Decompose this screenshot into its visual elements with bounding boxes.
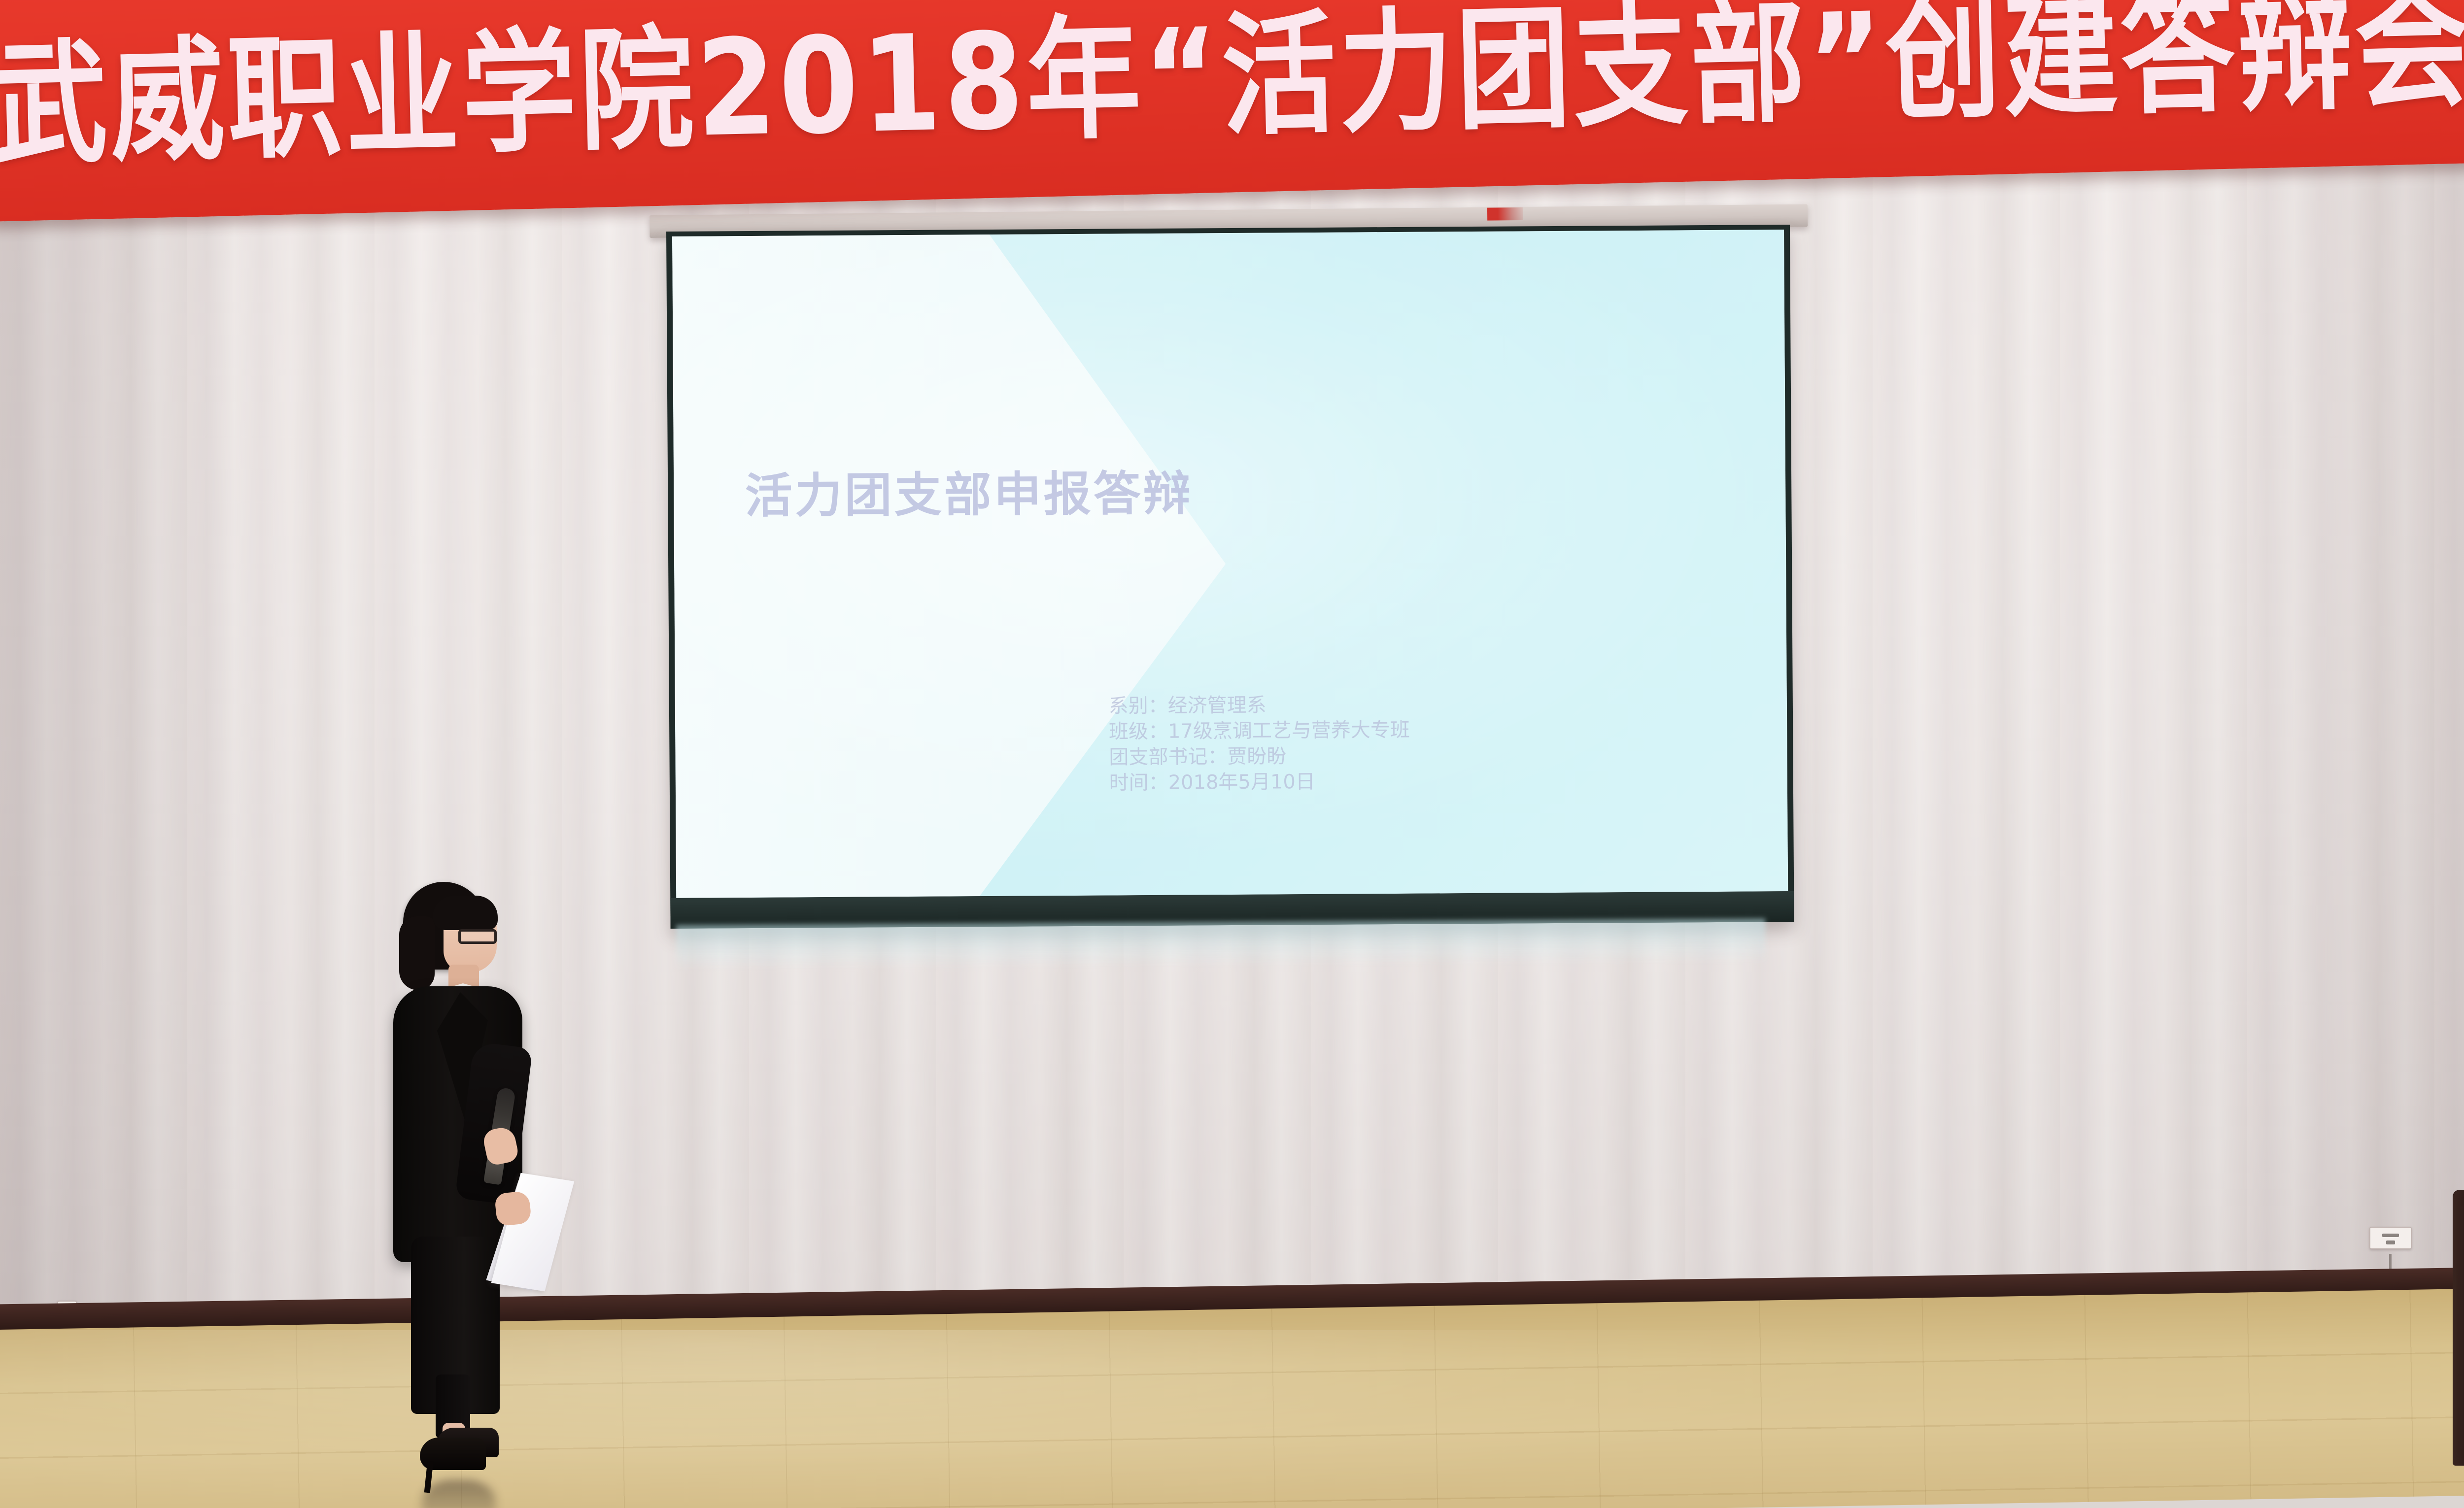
wall-outlet-right xyxy=(2369,1227,2412,1249)
glasses-icon xyxy=(458,929,497,944)
projector-screen-frame: 活力团支部申报答辩 系别：经济管理系 班级：17级烹调工艺与营养大专班 团支部书… xyxy=(666,225,1794,929)
slide-meta-department: 系别：经济管理系 xyxy=(1109,690,1643,719)
presenter xyxy=(375,882,552,1429)
outlet-slot xyxy=(2382,1234,2399,1237)
slide-meta-block: 系别：经济管理系 班级：17级烹调工艺与营养大专班 团支部书记：贾盼盼 时间：2… xyxy=(1109,690,1643,796)
projector-screen-surface: 活力团支部申报答辩 系别：经济管理系 班级：17级烹调工艺与营养大专班 团支部书… xyxy=(672,230,1788,898)
outlet-slot xyxy=(2386,1240,2395,1244)
screen-light-spill xyxy=(676,919,1766,970)
hair-side xyxy=(399,916,435,990)
floor-reflection-sheen xyxy=(0,1330,2464,1508)
banner-title: 武威职业学院2018年“活力团支部”创建答辩会 xyxy=(0,0,2464,172)
hand-holding-papers xyxy=(494,1191,532,1227)
dark-chair xyxy=(2453,1190,2464,1466)
banner-cloth: 武威职业学院2018年“活力团支部”创建答辩会 xyxy=(0,0,2464,222)
slide-meta-date: 时间：2018年5月10日 xyxy=(1109,767,1643,796)
event-banner: 武威职业学院2018年“活力团支部”创建答辩会 xyxy=(0,0,2464,246)
slide-title: 活力团支部申报答辩 xyxy=(745,455,1193,526)
hair-fringe xyxy=(433,896,498,930)
slide-meta-class: 班级：17级烹调工艺与营养大专班 xyxy=(1109,716,1643,745)
slide-meta-secretary: 团支部书记：贾盼盼 xyxy=(1109,741,1643,771)
photo-canvas: 活力团支部申报答辩 系别：经济管理系 班级：17级烹调工艺与营养大专班 团支部书… xyxy=(0,0,2464,1508)
banner-text-area: 武威职业学院2018年“活力团支部”创建答辩会 xyxy=(0,0,2464,222)
